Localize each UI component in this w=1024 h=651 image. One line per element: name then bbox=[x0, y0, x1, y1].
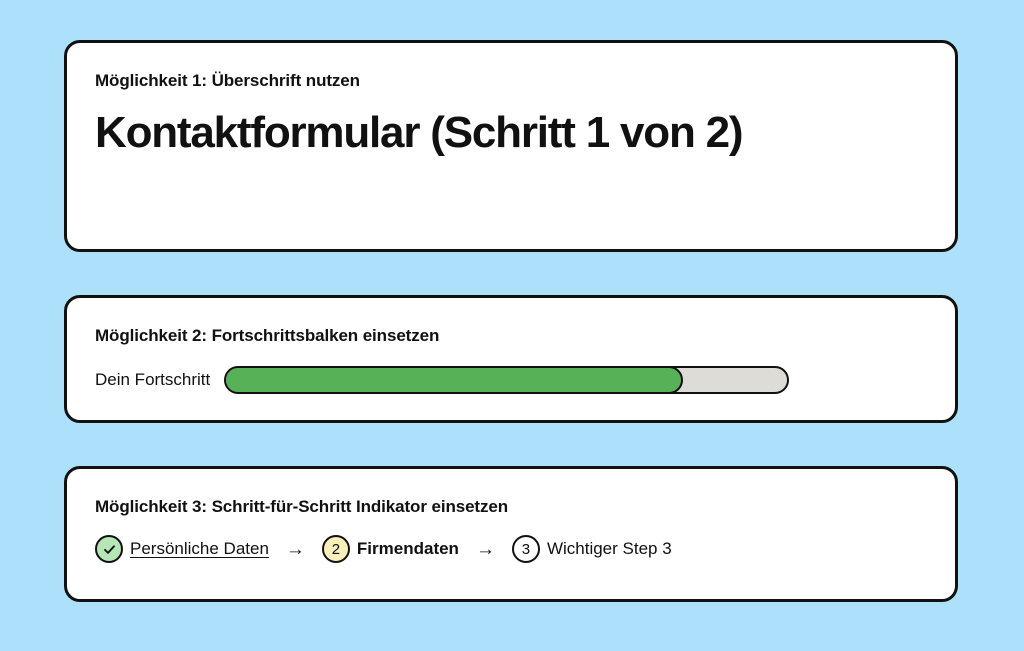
check-icon bbox=[95, 535, 123, 563]
step-item-step-3[interactable]: 3 Wichtiger Step 3 bbox=[512, 535, 672, 563]
card-progress-option: Möglichkeit 2: Fortschrittsbalken einset… bbox=[64, 295, 958, 423]
card-steps-option-label: Möglichkeit 3: Schritt-für-Schritt Indik… bbox=[95, 469, 927, 517]
step-label-step-3[interactable]: Wichtiger Step 3 bbox=[547, 539, 672, 559]
step-indicator: Persönliche Daten → 2 Firmendaten → 3 Wi… bbox=[95, 535, 927, 563]
step-arrow-icon-1: → bbox=[286, 540, 305, 559]
step-label-company-data[interactable]: Firmendaten bbox=[357, 539, 459, 559]
step-label-personal-data[interactable]: Persönliche Daten bbox=[130, 539, 269, 559]
card-heading-option-label: Möglichkeit 1: Überschrift nutzen bbox=[95, 43, 927, 91]
form-page-title: Kontaktformular (Schritt 1 von 2) bbox=[95, 105, 755, 161]
progress-bar-track bbox=[224, 366, 789, 394]
card-progress-option-label: Möglichkeit 2: Fortschrittsbalken einset… bbox=[95, 298, 927, 346]
card-steps-option: Möglichkeit 3: Schritt-für-Schritt Indik… bbox=[64, 466, 958, 602]
number-icon-3: 3 bbox=[512, 535, 540, 563]
progress-caption: Dein Fortschritt bbox=[95, 370, 210, 390]
number-icon-2: 2 bbox=[322, 535, 350, 563]
page-root: Möglichkeit 1: Überschrift nutzen Kontak… bbox=[0, 0, 1024, 651]
progress-bar-fill bbox=[224, 366, 682, 394]
step-item-company-data[interactable]: 2 Firmendaten bbox=[322, 535, 459, 563]
progress-row: Dein Fortschritt bbox=[95, 366, 927, 394]
card-heading-option: Möglichkeit 1: Überschrift nutzen Kontak… bbox=[64, 40, 958, 252]
step-arrow-icon-2: → bbox=[476, 540, 495, 559]
step-item-personal-data[interactable]: Persönliche Daten bbox=[95, 535, 269, 563]
